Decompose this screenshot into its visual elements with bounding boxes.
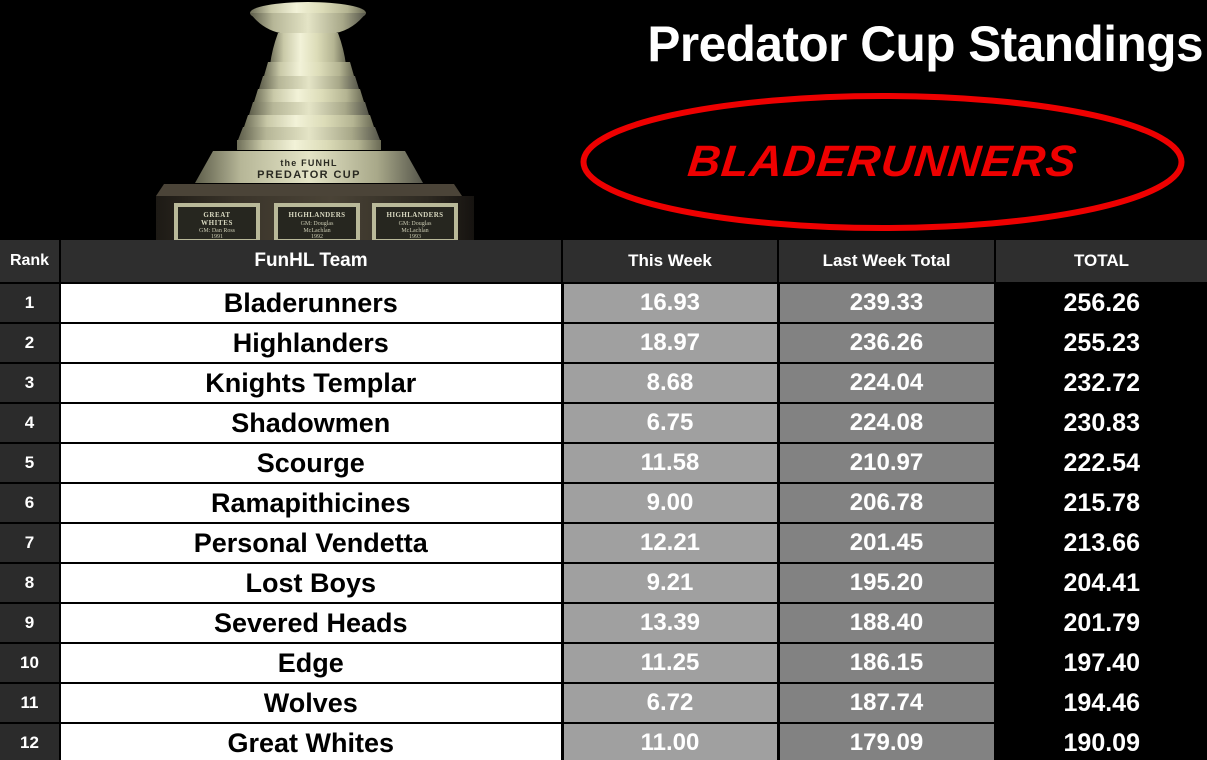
cell-rank: 10 bbox=[0, 643, 60, 683]
cell-last-week-total: 236.26 bbox=[778, 323, 995, 363]
cell-last-week-total: 206.78 bbox=[778, 483, 995, 523]
cell-total: 232.72 bbox=[995, 363, 1207, 403]
page-title: Predator Cup Standings bbox=[581, 11, 1203, 77]
predator-cup-standings-page: the FUNHL PREDATOR CUP GREAT WHITES GM: … bbox=[0, 0, 1207, 760]
logo-text: BLADERUNNERS bbox=[566, 92, 1198, 232]
cell-rank: 7 bbox=[0, 523, 60, 563]
cell-team: Highlanders bbox=[60, 323, 562, 363]
cell-total: 213.66 bbox=[995, 523, 1207, 563]
column-header-last-week: Last Week Total bbox=[778, 240, 995, 283]
cell-last-week-total: 210.97 bbox=[778, 443, 995, 483]
cell-rank: 11 bbox=[0, 683, 60, 723]
cell-rank: 3 bbox=[0, 363, 60, 403]
cell-team: Shadowmen bbox=[60, 403, 562, 443]
table-row: 5Scourge11.58210.97222.54 bbox=[0, 443, 1207, 483]
svg-text:HIGHLANDERS: HIGHLANDERS bbox=[289, 211, 346, 219]
cell-this-week: 12.21 bbox=[562, 523, 778, 563]
cell-team: Bladerunners bbox=[60, 283, 562, 323]
cell-this-week: 18.97 bbox=[562, 323, 778, 363]
trophy-plaque-1: GREAT WHITES GM: Dan Ross 1991 bbox=[174, 203, 260, 240]
cell-rank: 8 bbox=[0, 563, 60, 603]
cell-total: 194.46 bbox=[995, 683, 1207, 723]
cell-this-week: 6.75 bbox=[562, 403, 778, 443]
cell-total: 255.23 bbox=[995, 323, 1207, 363]
cell-team: Ramapithicines bbox=[60, 483, 562, 523]
cell-last-week-total: 195.20 bbox=[778, 563, 995, 603]
cell-last-week-total: 239.33 bbox=[778, 283, 995, 323]
cell-total: 197.40 bbox=[995, 643, 1207, 683]
cell-total: 215.78 bbox=[995, 483, 1207, 523]
cell-last-week-total: 179.09 bbox=[778, 723, 995, 760]
table-row: 7Personal Vendetta12.21201.45213.66 bbox=[0, 523, 1207, 563]
cell-this-week: 9.21 bbox=[562, 563, 778, 603]
svg-text:the FUNHL: the FUNHL bbox=[280, 158, 337, 168]
cell-last-week-total: 224.04 bbox=[778, 363, 995, 403]
table-row: 3Knights Templar8.68224.04232.72 bbox=[0, 363, 1207, 403]
table-row: 11Wolves6.72187.74194.46 bbox=[0, 683, 1207, 723]
table-row: 4Shadowmen6.75224.08230.83 bbox=[0, 403, 1207, 443]
standings-table: Rank FunHL Team This Week Last Week Tota… bbox=[0, 240, 1207, 760]
cell-this-week: 11.58 bbox=[562, 443, 778, 483]
cell-total: 204.41 bbox=[995, 563, 1207, 603]
cell-team: Severed Heads bbox=[60, 603, 562, 643]
cell-team: Great Whites bbox=[60, 723, 562, 760]
cell-rank: 2 bbox=[0, 323, 60, 363]
cell-team: Knights Templar bbox=[60, 363, 562, 403]
column-header-team: FunHL Team bbox=[60, 240, 562, 283]
table-row: 9Severed Heads13.39188.40201.79 bbox=[0, 603, 1207, 643]
svg-text:WHITES: WHITES bbox=[201, 219, 233, 227]
table-row: 6Ramapithicines9.00206.78215.78 bbox=[0, 483, 1207, 523]
cell-team: Wolves bbox=[60, 683, 562, 723]
column-header-this-week: This Week bbox=[562, 240, 778, 283]
cell-team: Edge bbox=[60, 643, 562, 683]
cell-this-week: 9.00 bbox=[562, 483, 778, 523]
page-banner: the FUNHL PREDATOR CUP GREAT WHITES GM: … bbox=[0, 0, 1207, 240]
cell-last-week-total: 201.45 bbox=[778, 523, 995, 563]
table-row: 10Edge11.25186.15197.40 bbox=[0, 643, 1207, 683]
cell-rank: 5 bbox=[0, 443, 60, 483]
trophy-tier-upper: GREAT WHITES GM: Dan Ross 1991 HIGHLANDE… bbox=[156, 184, 474, 240]
cell-total: 222.54 bbox=[995, 443, 1207, 483]
cell-last-week-total: 187.74 bbox=[778, 683, 995, 723]
trophy-bowl bbox=[237, 2, 381, 150]
cell-team: Personal Vendetta bbox=[60, 523, 562, 563]
svg-text:PREDATOR CUP: PREDATOR CUP bbox=[257, 169, 361, 181]
trophy-plaque-3: HIGHLANDERS GM: Douglas McLachlan 1993 bbox=[372, 203, 458, 240]
cell-last-week-total: 186.15 bbox=[778, 643, 995, 683]
cell-team: Scourge bbox=[60, 443, 562, 483]
cell-this-week: 11.00 bbox=[562, 723, 778, 760]
predator-cup-trophy-image: the FUNHL PREDATOR CUP GREAT WHITES GM: … bbox=[60, 0, 560, 240]
cell-last-week-total: 224.08 bbox=[778, 403, 995, 443]
cell-rank: 12 bbox=[0, 723, 60, 760]
table-row: 8Lost Boys9.21195.20204.41 bbox=[0, 563, 1207, 603]
table-row: 2Highlanders18.97236.26255.23 bbox=[0, 323, 1207, 363]
cell-this-week: 16.93 bbox=[562, 283, 778, 323]
cell-total: 256.26 bbox=[995, 283, 1207, 323]
cell-total: 201.79 bbox=[995, 603, 1207, 643]
svg-text:GM: Douglas: GM: Douglas bbox=[399, 221, 432, 227]
bladerunners-logo: BLADERUNNERS bbox=[580, 92, 1185, 232]
cell-rank: 6 bbox=[0, 483, 60, 523]
cell-rank: 9 bbox=[0, 603, 60, 643]
svg-text:HIGHLANDERS: HIGHLANDERS bbox=[387, 211, 444, 219]
cell-total: 190.09 bbox=[995, 723, 1207, 760]
table-row: 12Great Whites11.00179.09190.09 bbox=[0, 723, 1207, 760]
table-header-row: Rank FunHL Team This Week Last Week Tota… bbox=[0, 240, 1207, 283]
cell-rank: 1 bbox=[0, 283, 60, 323]
cell-this-week: 13.39 bbox=[562, 603, 778, 643]
cell-rank: 4 bbox=[0, 403, 60, 443]
svg-text:GREAT: GREAT bbox=[203, 211, 230, 219]
cell-this-week: 8.68 bbox=[562, 363, 778, 403]
cell-last-week-total: 188.40 bbox=[778, 603, 995, 643]
cell-this-week: 6.72 bbox=[562, 683, 778, 723]
trophy-name-band: the FUNHL PREDATOR CUP bbox=[195, 151, 423, 183]
cell-team: Lost Boys bbox=[60, 563, 562, 603]
table-row: 1Bladerunners16.93239.33256.26 bbox=[0, 283, 1207, 323]
column-header-total: TOTAL bbox=[995, 240, 1207, 283]
svg-text:GM: Douglas: GM: Douglas bbox=[301, 221, 334, 227]
standings-table-body: 1Bladerunners16.93239.33256.262Highlande… bbox=[0, 283, 1207, 760]
trophy-plaque-2: HIGHLANDERS GM: Douglas McLachlan 1992 bbox=[274, 203, 360, 240]
column-header-rank: Rank bbox=[0, 240, 60, 283]
cell-total: 230.83 bbox=[995, 403, 1207, 443]
cell-this-week: 11.25 bbox=[562, 643, 778, 683]
